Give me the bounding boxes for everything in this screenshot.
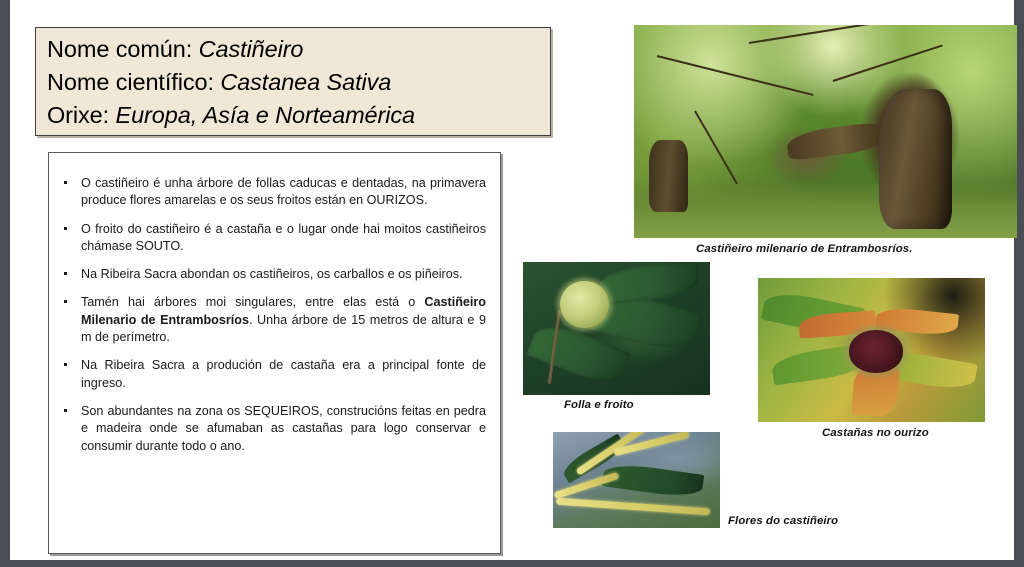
photo-tree-limb <box>786 121 888 161</box>
caption-millenary-chestnut-tree: Castiñeiro milenario de Entrambosríos. <box>696 243 912 255</box>
bullet-dot-icon <box>64 363 67 366</box>
photo-chestnut-cluster <box>849 330 903 373</box>
title-label-common-name: Nome común: <box>47 36 199 62</box>
body-text-box: O castiñeiro é unha árbore de follas cad… <box>48 152 501 554</box>
list-item-text: Son abundantes na zona os SEQUEIROS, con… <box>81 404 486 453</box>
bullet-dot-icon <box>64 272 67 275</box>
photo-chestnut-flowers <box>553 432 720 528</box>
title-value-scientific-name: Castanea Sativa <box>220 69 391 95</box>
bullet-dot-icon <box>64 181 67 184</box>
slide-canvas: Nome común: Castiñeiro Nome científico: … <box>10 0 1014 560</box>
photo-branch <box>749 25 878 44</box>
list-item: Na Ribeira Sacra abondan os castiñeiros,… <box>59 266 486 283</box>
photo-leaf-and-fruit <box>523 262 710 395</box>
photo-leaf-blade <box>602 462 705 501</box>
window-frame-left <box>0 0 10 567</box>
title-box: Nome común: Castiñeiro Nome científico: … <box>35 27 551 136</box>
photo-millenary-chestnut-tree <box>634 25 1017 238</box>
bullet-list: O castiñeiro é unha árbore de follas cad… <box>59 175 486 455</box>
bullet-dot-icon <box>64 227 67 230</box>
photo-branch <box>694 111 738 185</box>
photo-catkin <box>556 498 710 516</box>
list-item: Tamén hai árbores moi singulares, entre … <box>59 294 486 346</box>
photo-leaf-blade-autumn <box>852 366 901 418</box>
list-item: Na Ribeira Sacra a produción de castaña … <box>59 357 486 392</box>
list-item-text: Na Ribeira Sacra abondan os castiñeiros,… <box>81 267 463 281</box>
caption-leaf-and-fruit: Folla e froito <box>564 399 634 411</box>
list-item: O froito do castiñeiro é a castaña e o l… <box>59 221 486 256</box>
photo-ground-layer <box>634 183 1017 238</box>
list-item-text: Na Ribeira Sacra a produción de castaña … <box>81 358 486 389</box>
title-line-scientific-name: Nome científico: Castanea Sativa <box>47 66 550 99</box>
title-line-common-name: Nome común: Castiñeiro <box>47 33 550 66</box>
title-label-scientific-name: Nome científico: <box>47 69 220 95</box>
list-item: Son abundantes na zona os SEQUEIROS, con… <box>59 403 486 455</box>
photo-branch <box>657 55 814 96</box>
title-label-origin: Orixe: <box>47 102 116 128</box>
window-frame-bottom <box>0 560 1024 567</box>
title-value-common-name: Castiñeiro <box>199 36 304 62</box>
title-value-origin: Europa, Asía e Norteamérica <box>116 102 415 128</box>
photo-tree-trunk <box>879 89 952 230</box>
title-line-origin: Orixe: Europa, Asía e Norteamérica <box>47 99 550 132</box>
photo-leaf-blade <box>596 262 700 304</box>
caption-chestnuts-in-burr: Castañas no ourizo <box>822 427 929 439</box>
photo-branch <box>833 45 943 82</box>
bullet-dot-icon <box>64 300 67 303</box>
photo-secondary-trunk <box>649 140 687 212</box>
caption-chestnut-flowers: Flores do castiñeiro <box>728 515 838 527</box>
list-item-text: Tamén hai árbores moi singulares, entre … <box>81 295 424 309</box>
bullet-dot-icon <box>64 409 67 412</box>
photo-green-burr <box>560 281 609 329</box>
photo-chestnuts-in-burr <box>758 278 985 422</box>
list-item-text: O froito do castiñeiro é a castaña e o l… <box>81 222 486 253</box>
list-item-text: O castiñeiro é unha árbore de follas cad… <box>81 176 486 207</box>
list-item: O castiñeiro é unha árbore de follas cad… <box>59 175 486 210</box>
